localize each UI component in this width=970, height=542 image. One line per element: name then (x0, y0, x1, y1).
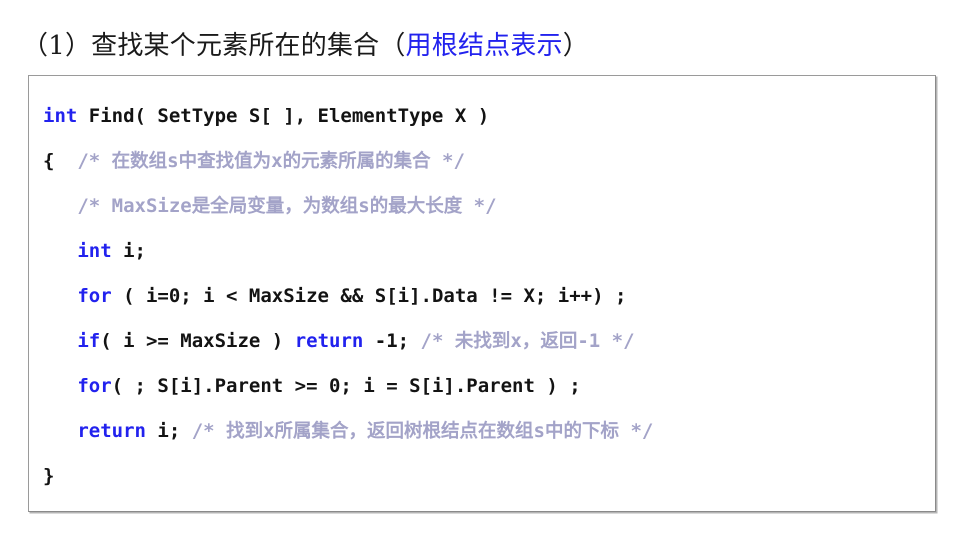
code-token-cmt: /* (192, 420, 226, 442)
code-line: return i; /* 找到x所属集合，返回树根结点在数组s中的下标 */ (29, 409, 935, 454)
code-token-cmt: */ (462, 195, 496, 217)
code-token-kw: if (77, 330, 100, 352)
code-token-plain: i; (112, 240, 146, 262)
code-token-plain: ( ; S[i].Parent >= 0; i = S[i].Parent ) … (112, 375, 581, 397)
code-listing: int Find( SetType S[ ], ElementType X ){… (29, 76, 935, 499)
code-token-cmt: */ (431, 150, 465, 172)
code-token-plain: Find( SetType S[ ], ElementType X ) (77, 105, 489, 127)
code-token-cmt: s (534, 420, 545, 442)
code-token-cmt: 在数组 (112, 151, 168, 172)
code-token-plain (43, 420, 77, 442)
code-token-cmt: /* MaxSize (77, 195, 191, 217)
code-token-plain (43, 375, 77, 397)
code-token-plain: { (43, 150, 77, 172)
code-token-cmt: 未找到 (455, 331, 511, 352)
code-token-kw: return (77, 420, 146, 442)
code-token-kw: for (77, 285, 111, 307)
code-line: int i; (29, 229, 935, 274)
code-token-kw: return (295, 330, 364, 352)
code-line: /* MaxSize是全局变量，为数组s的最大长度 */ (29, 184, 935, 229)
code-block-card: int Find( SetType S[ ], ElementType X ){… (28, 75, 936, 512)
code-token-plain: ( i=0; i < MaxSize && S[i].Data != X; i+… (112, 285, 627, 307)
code-token-kw: int (77, 240, 111, 262)
code-token-cmt: ，返回 (522, 331, 578, 352)
code-token-cmt: 中的下标 (545, 421, 619, 442)
code-line: for( ; S[i].Parent >= 0; i = S[i].Parent… (29, 364, 935, 409)
code-token-plain: ( i >= MaxSize ) (100, 330, 294, 352)
code-token-plain (43, 240, 77, 262)
code-token-plain (43, 330, 77, 352)
page-title: （1）查找某个元素所在的集合（用根结点表示） (22, 29, 589, 63)
code-token-kw: for (77, 375, 111, 397)
code-token-cmt: x (271, 150, 282, 172)
code-token-cmt: /* (77, 150, 111, 172)
code-token-cmt: 的最大长度 (370, 196, 463, 217)
code-token-cmt: */ (619, 420, 653, 442)
code-token-cmt: x (263, 420, 274, 442)
code-token-cmt: 的元素所属的集合 (283, 151, 431, 172)
code-token-cmt: -1 */ (577, 330, 634, 352)
page-title-suffix: ） (563, 31, 589, 61)
code-token-cmt: /* (421, 330, 455, 352)
page-title-highlight: 用根结点表示 (406, 31, 563, 61)
code-token-cmt: 是全局变量，为数组 (192, 196, 359, 217)
code-token-cmt: 所属集合，返回树根结点在数组 (275, 421, 534, 442)
code-line: } (29, 454, 935, 499)
code-line: for ( i=0; i < MaxSize && S[i].Data != X… (29, 274, 935, 319)
code-line: { /* 在数组s中查找值为x的元素所属的集合 */ (29, 139, 935, 184)
code-token-cmt: x (510, 330, 521, 352)
code-token-kw: int (43, 105, 77, 127)
code-token-plain (43, 285, 77, 307)
code-token-plain (43, 195, 77, 217)
code-token-cmt: s (358, 195, 369, 217)
code-token-cmt: s (167, 150, 178, 172)
code-line: int Find( SetType S[ ], ElementType X ) (29, 94, 935, 139)
code-line: if( i >= MaxSize ) return -1; /* 未找到x，返回… (29, 319, 935, 364)
page-title-prefix: （1）查找某个元素所在的集合（ (22, 31, 406, 61)
code-token-cmt: 找到 (226, 421, 263, 442)
code-token-cmt: 中查找值为 (179, 151, 272, 172)
code-token-plain: } (43, 465, 54, 487)
code-token-plain: -1; (363, 330, 420, 352)
code-token-plain: i; (146, 420, 192, 442)
